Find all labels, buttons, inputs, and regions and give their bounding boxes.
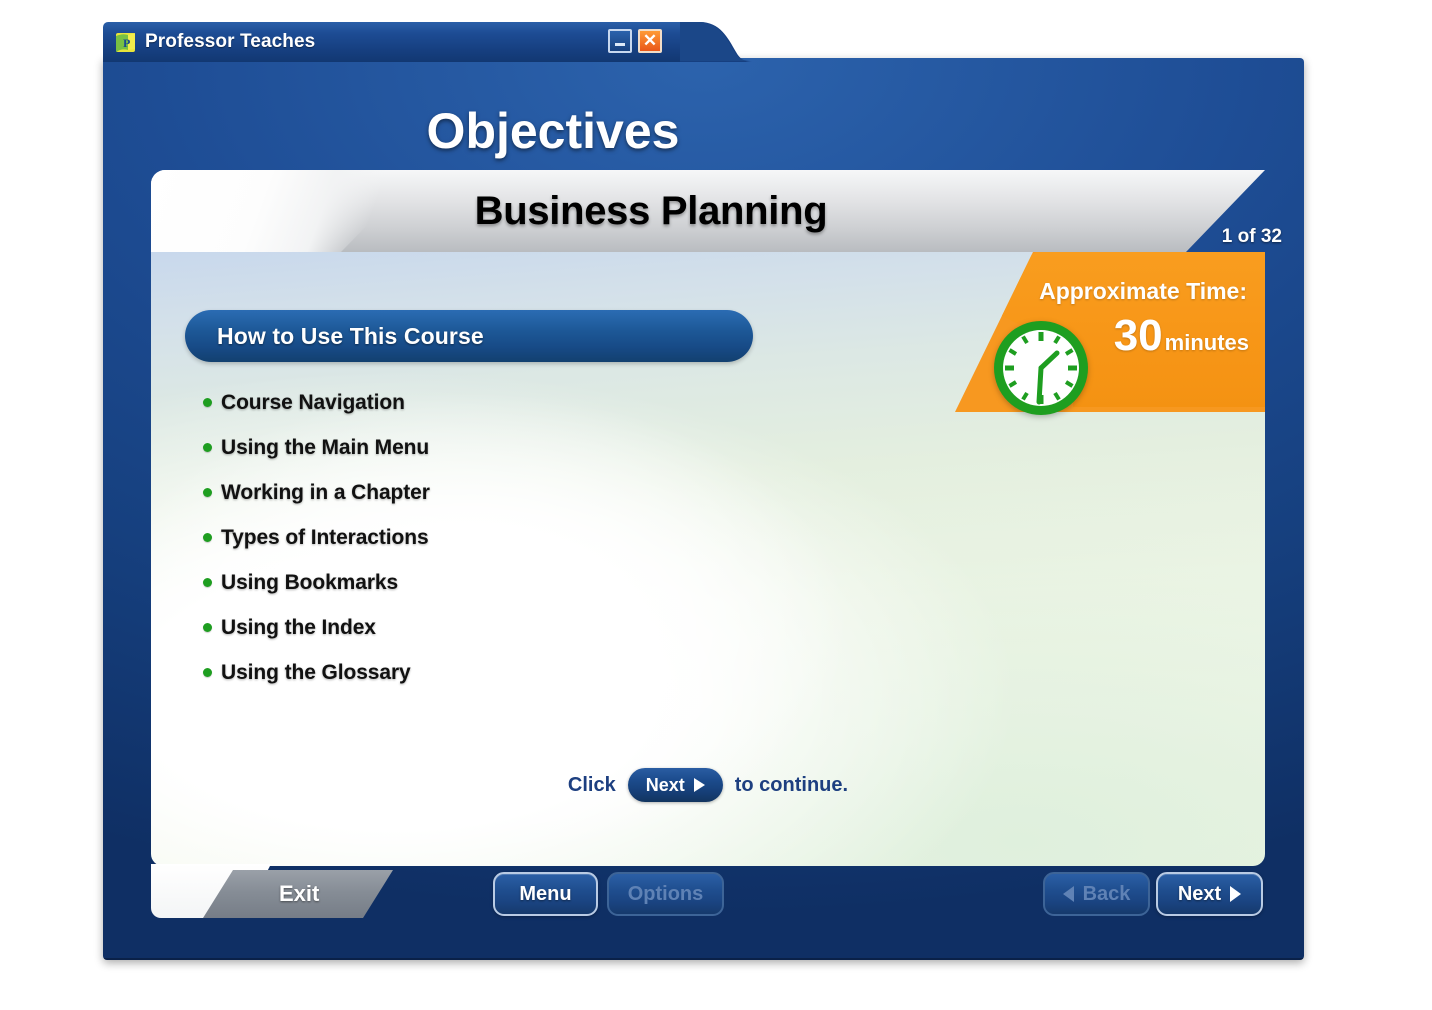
window-body: Objectives 1 of 32 Business Planning App…	[103, 58, 1304, 960]
topic-heading-label: How to Use This Course	[217, 323, 484, 350]
back-button[interactable]: Back	[1043, 872, 1150, 916]
list-item-label: Using the Main Menu	[221, 436, 429, 460]
topic-heading-pill: How to Use This Course	[185, 310, 753, 362]
options-label: Options	[628, 883, 704, 906]
approximate-time-number: 30	[1114, 314, 1163, 358]
list-item-label: Using the Index	[221, 616, 376, 640]
list-item: Types of Interactions	[203, 515, 430, 560]
bullet-dot-icon	[203, 398, 212, 407]
clock-icon	[989, 316, 1093, 420]
list-item: Using Bookmarks	[203, 560, 430, 605]
inline-next-button[interactable]: Next	[628, 768, 723, 802]
application-window: P Professor Teaches ✕ Objectives 1 of 32	[103, 22, 1304, 960]
options-button[interactable]: Options	[607, 872, 724, 916]
next-button[interactable]: Next	[1156, 872, 1263, 916]
course-title: Business Planning	[151, 170, 1151, 252]
page-counter: 1 of 32	[1222, 226, 1282, 248]
menu-label: Menu	[519, 883, 571, 906]
list-item: Using the Main Menu	[203, 425, 430, 470]
page-title: Objectives	[253, 102, 853, 160]
continue-hint: Click Next to continue.	[151, 768, 1265, 802]
list-item: Course Navigation	[203, 380, 430, 425]
bullet-dot-icon	[203, 488, 212, 497]
bullet-dot-icon	[203, 578, 212, 587]
continue-suffix: to continue.	[735, 774, 848, 797]
course-banner: Business Planning	[151, 170, 1265, 252]
continue-prefix: Click	[568, 774, 616, 797]
list-item-label: Types of Interactions	[221, 526, 429, 550]
objectives-list: Course Navigation Using the Main Menu Wo…	[203, 380, 430, 695]
list-item-label: Using the Glossary	[221, 661, 411, 685]
lesson-page: Approximate Time: 30 minutes	[151, 252, 1265, 866]
close-button[interactable]: ✕	[638, 29, 662, 53]
approximate-time-value: 30 minutes	[1114, 314, 1249, 358]
list-item: Working in a Chapter	[203, 470, 430, 515]
menu-button[interactable]: Menu	[493, 872, 598, 916]
bullet-dot-icon	[203, 623, 212, 632]
chevron-right-icon	[1230, 886, 1241, 902]
title-bar: P Professor Teaches ✕	[103, 22, 680, 62]
bullet-dot-icon	[203, 443, 212, 452]
close-icon: ✕	[643, 32, 657, 49]
window-title: Professor Teaches	[145, 31, 315, 53]
list-item-label: Course Navigation	[221, 391, 405, 415]
chevron-right-icon	[694, 778, 705, 792]
svg-text:P: P	[123, 36, 130, 50]
section-title-wrap: Objectives	[253, 102, 853, 160]
content-card: Business Planning Approximate Time: 30 m…	[151, 170, 1265, 866]
title-bar-curve	[680, 22, 754, 62]
bullet-dot-icon	[203, 533, 212, 542]
approximate-time-unit: minutes	[1165, 330, 1249, 356]
bullet-dot-icon	[203, 668, 212, 677]
exit-label: Exit	[279, 881, 319, 907]
approximate-time-label: Approximate Time:	[1039, 278, 1247, 305]
list-item: Using the Index	[203, 605, 430, 650]
back-label: Back	[1083, 883, 1131, 906]
chevron-left-icon	[1063, 886, 1074, 902]
list-item-label: Using Bookmarks	[221, 571, 398, 595]
inline-next-label: Next	[646, 775, 685, 796]
list-item: Using the Glossary	[203, 650, 430, 695]
minimize-button[interactable]	[608, 29, 632, 53]
professor-teaches-logo-icon: P	[115, 32, 136, 53]
next-label: Next	[1178, 883, 1221, 906]
list-item-label: Working in a Chapter	[221, 481, 430, 505]
window-controls: ✕	[608, 29, 662, 53]
minimize-icon	[615, 43, 625, 46]
